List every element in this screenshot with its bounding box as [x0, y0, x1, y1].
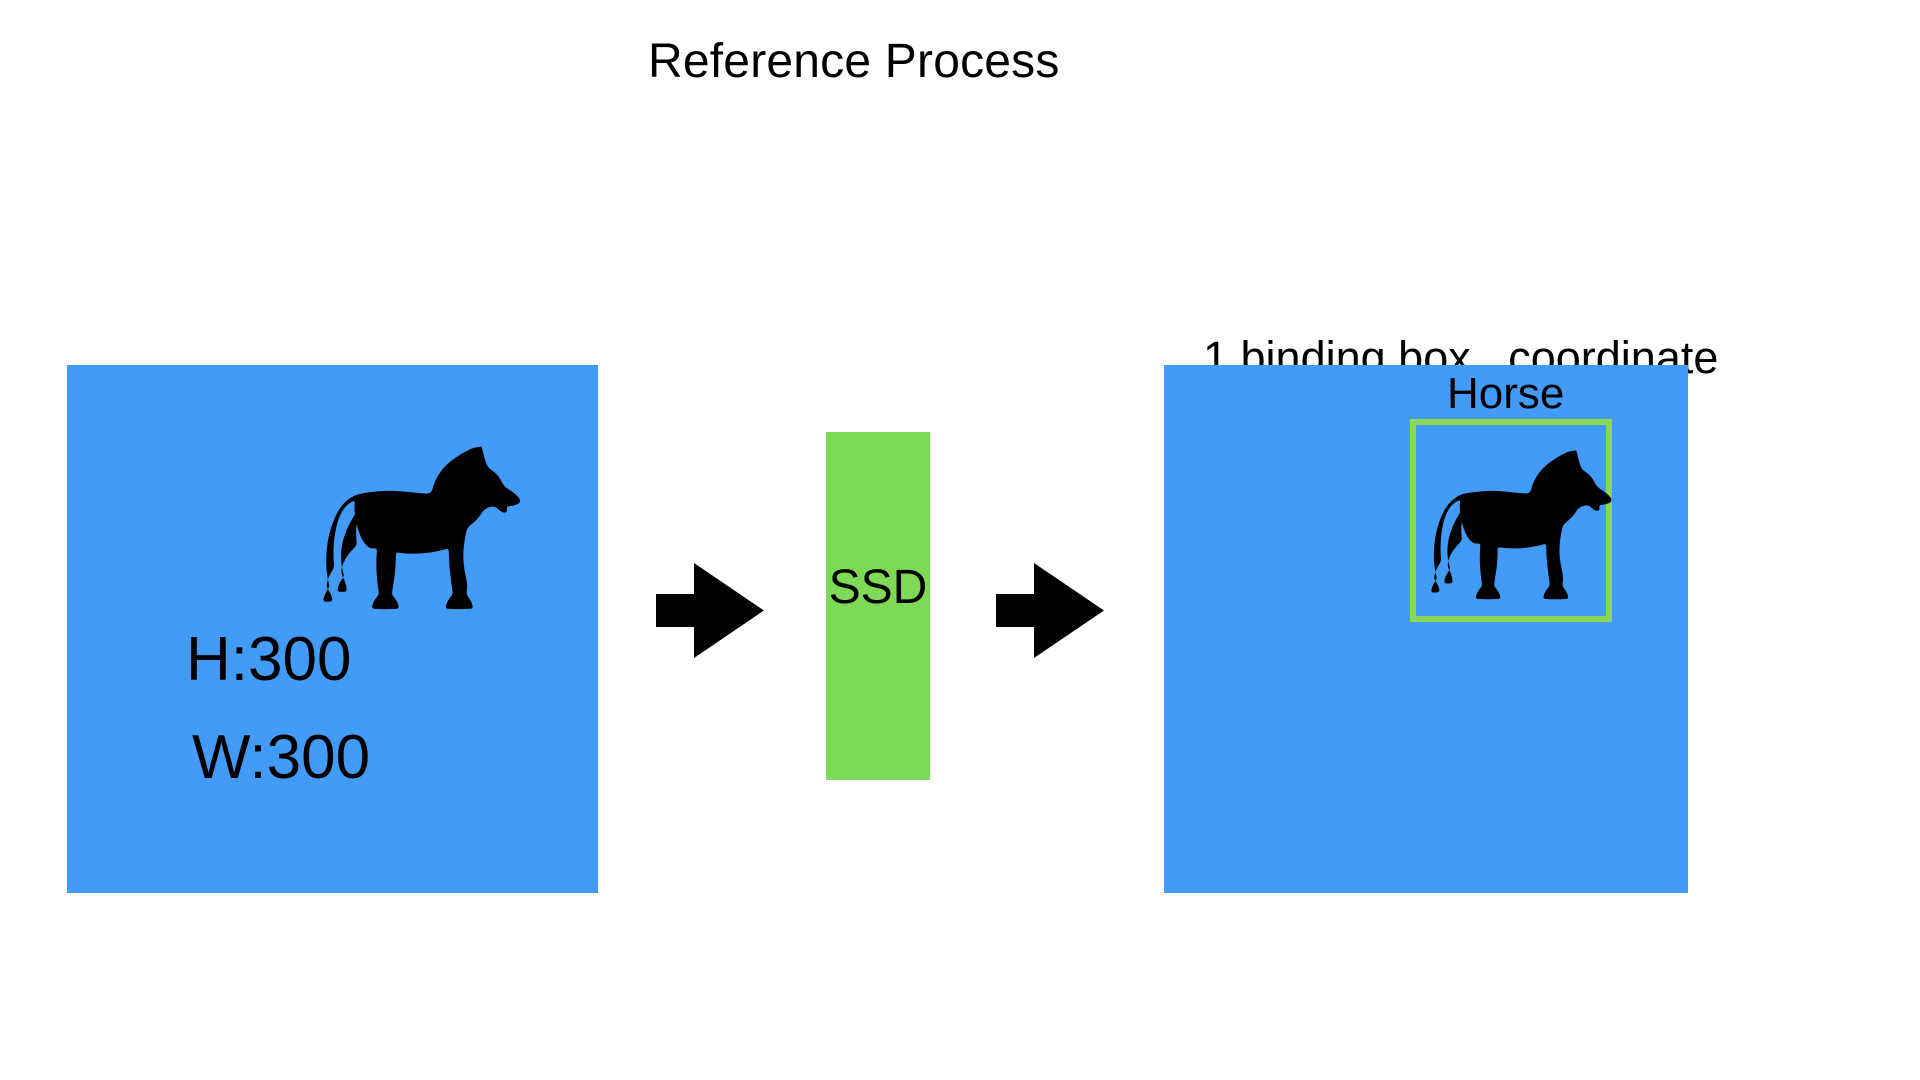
horse-silhouette-icon	[322, 443, 537, 611]
arrow-right-icon	[656, 563, 764, 658]
ssd-model-label: SSD	[826, 432, 930, 780]
input-width-label: W:300	[192, 727, 370, 789]
horse-silhouette-icon	[1430, 447, 1627, 601]
page-title: Reference Process	[648, 33, 1060, 91]
arrow-right-icon	[996, 563, 1104, 658]
diagram-canvas: Reference Process 1.binding box coordina…	[0, 0, 1920, 1080]
detection-class-label: Horse	[1447, 369, 1564, 419]
input-height-label: H:300	[186, 629, 351, 691]
ssd-model-block: SSD	[826, 432, 930, 780]
